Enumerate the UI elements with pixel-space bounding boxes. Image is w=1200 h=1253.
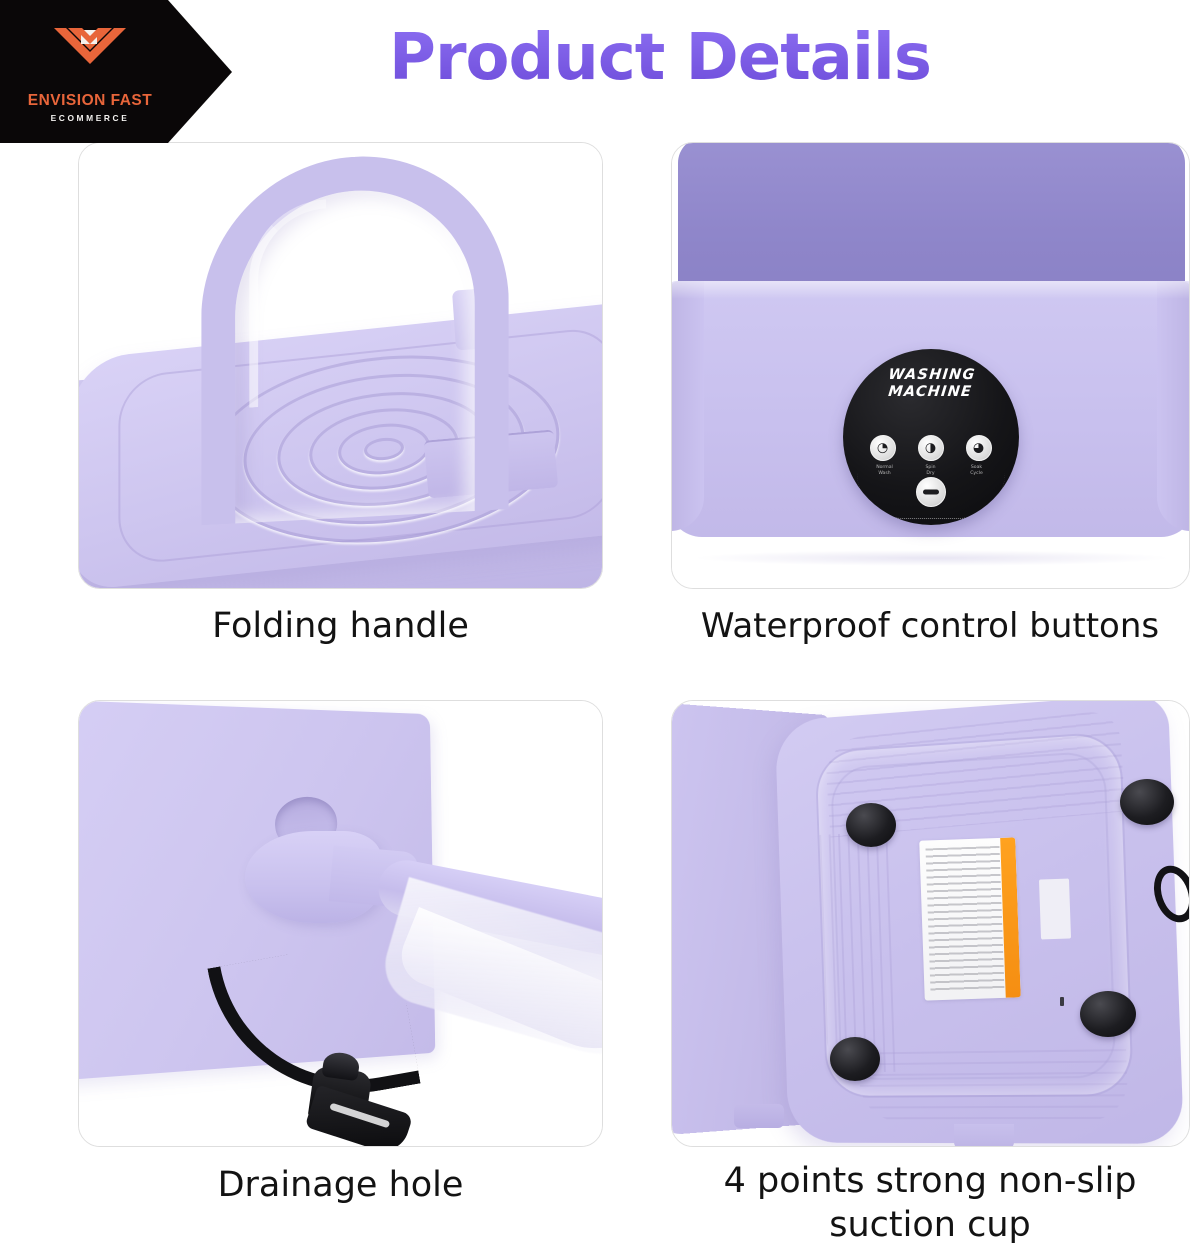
detail-card-control-buttons: WASHING MACHINE ◔ ◑ ◕	[671, 142, 1190, 589]
wash-mode-icon: ◔	[877, 442, 888, 455]
spin-dry-button[interactable]: ◑	[918, 435, 944, 461]
soak-icon: ◕	[973, 442, 984, 455]
suction-cup	[830, 1037, 880, 1081]
product-details-infographic: ENVISION FAST ECOMMERCE Product Details	[0, 0, 1200, 1253]
brand-name: ENVISION FAST	[28, 92, 153, 110]
product-photo-control-buttons: WASHING MACHINE ◔ ◑ ◕	[672, 143, 1189, 588]
details-grid: Folding handle WASHING MACHINE ◔	[0, 0, 1200, 1253]
suction-cup	[1080, 991, 1136, 1037]
product-photo-suction-cups	[672, 701, 1189, 1146]
control-panel-title: WASHING MACHINE	[843, 367, 1019, 401]
caption-suction-cups: 4 points strong non-slip suction cup	[660, 1159, 1200, 1247]
caption-control-buttons: Waterproof control buttons	[660, 604, 1200, 648]
caption-folding-handle: Folding handle	[78, 604, 603, 648]
product-photo-folding-handle	[79, 143, 602, 588]
detail-card-suction-cups	[671, 700, 1190, 1147]
control-panel: WASHING MACHINE ◔ ◑ ◕	[843, 349, 1019, 525]
rating-label	[919, 837, 1021, 1000]
start-stop-button[interactable]	[916, 477, 946, 507]
envision-chevron-logo-icon	[48, 24, 132, 86]
folding-handle	[201, 149, 509, 526]
brand-subtitle: ECOMMERCE	[51, 113, 130, 123]
suction-cup	[846, 803, 896, 847]
machine-lid	[678, 142, 1185, 291]
soak-button[interactable]: ◕	[966, 435, 992, 461]
suction-cup	[1120, 779, 1174, 825]
image-frame	[78, 142, 603, 589]
detail-card-folding-handle	[78, 142, 603, 589]
detail-card-drainage-hole	[78, 700, 603, 1147]
image-frame	[671, 700, 1190, 1147]
wash-mode-button[interactable]: ◔	[870, 435, 896, 461]
image-frame	[78, 700, 603, 1147]
caption-drainage-hole: Drainage hole	[78, 1163, 603, 1207]
product-photo-drainage-hole	[79, 701, 602, 1146]
image-frame: WASHING MACHINE ◔ ◑ ◕	[671, 142, 1190, 589]
spin-dry-icon: ◑	[925, 442, 936, 455]
